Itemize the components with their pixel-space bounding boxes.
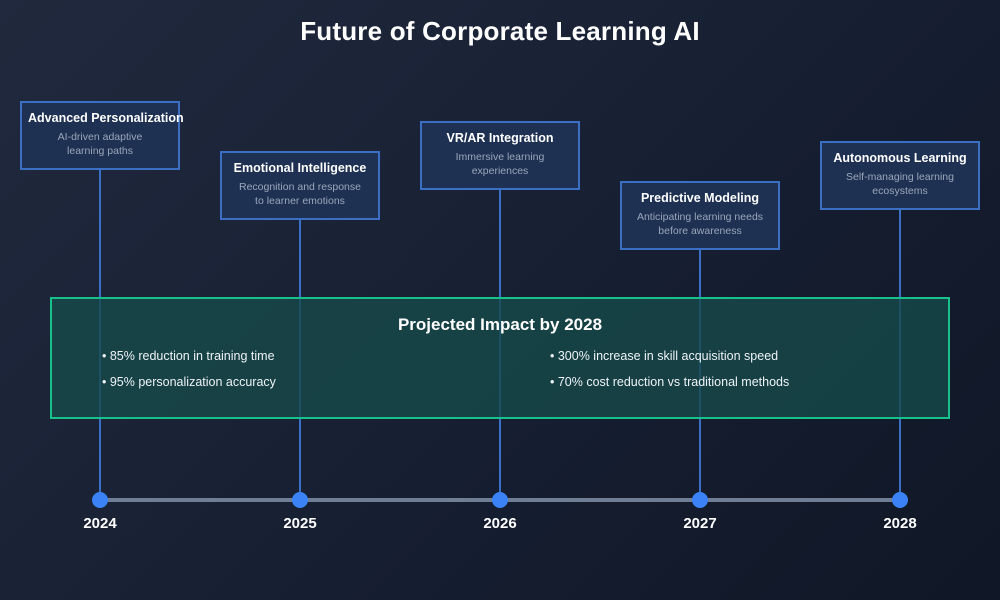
milestone-desc-line1: AI-driven adaptive <box>28 130 172 144</box>
axis-dot-2026[interactable] <box>492 492 508 508</box>
axis-dot-2024[interactable] <box>92 492 108 508</box>
milestone-card-2024[interactable]: Advanced Personalization AI-driven adapt… <box>20 101 180 170</box>
impact-columns: • 85% reduction in training time • 95% p… <box>52 349 948 400</box>
axis-year-label-2025: 2025 <box>250 515 350 532</box>
milestone-desc-line2: ecosystems <box>828 184 972 198</box>
axis-year-label-2027: 2027 <box>650 515 750 532</box>
impact-column-right: • 300% increase in skill acquisition spe… <box>500 349 948 400</box>
projected-impact-panel: Projected Impact by 2028 • 85% reduction… <box>50 297 950 419</box>
impact-panel-title: Projected Impact by 2028 <box>52 315 948 335</box>
axis-year-label-2024: 2024 <box>50 515 150 532</box>
page-title: Future of Corporate Learning AI <box>0 16 1000 47</box>
milestone-desc-line1: Anticipating learning needs <box>628 210 772 224</box>
impact-item: • 300% increase in skill acquisition spe… <box>550 349 948 365</box>
milestone-title: VR/AR Integration <box>428 131 572 147</box>
milestone-desc-line2: to learner emotions <box>228 194 372 208</box>
impact-item: • 95% personalization accuracy <box>102 375 500 391</box>
axis-year-label-2026: 2026 <box>450 515 550 532</box>
milestone-card-2026[interactable]: VR/AR Integration Immersive learning exp… <box>420 121 580 190</box>
infographic-canvas: Future of Corporate Learning AI Advanced… <box>0 0 1000 600</box>
milestone-card-2028[interactable]: Autonomous Learning Self-managing learni… <box>820 141 980 210</box>
axis-dot-2028[interactable] <box>892 492 908 508</box>
axis-year-label-2028: 2028 <box>850 515 950 532</box>
milestone-title: Autonomous Learning <box>828 151 972 167</box>
impact-item: • 85% reduction in training time <box>102 349 500 365</box>
milestone-desc-line1: Self-managing learning <box>828 170 972 184</box>
milestone-desc-line1: Immersive learning <box>428 150 572 164</box>
milestone-desc-line2: learning paths <box>28 144 172 158</box>
axis-dot-2027[interactable] <box>692 492 708 508</box>
milestone-title: Predictive Modeling <box>628 191 772 207</box>
axis-dot-2025[interactable] <box>292 492 308 508</box>
impact-item: • 70% cost reduction vs traditional meth… <box>550 375 948 391</box>
milestone-desc-line2: experiences <box>428 164 572 178</box>
milestone-card-2027[interactable]: Predictive Modeling Anticipating learnin… <box>620 181 780 250</box>
milestone-card-2025[interactable]: Emotional Intelligence Recognition and r… <box>220 151 380 220</box>
milestone-title: Emotional Intelligence <box>228 161 372 177</box>
impact-column-left: • 85% reduction in training time • 95% p… <box>52 349 500 400</box>
milestone-title: Advanced Personalization <box>28 111 172 127</box>
milestone-desc-line1: Recognition and response <box>228 180 372 194</box>
milestone-desc-line2: before awareness <box>628 224 772 238</box>
